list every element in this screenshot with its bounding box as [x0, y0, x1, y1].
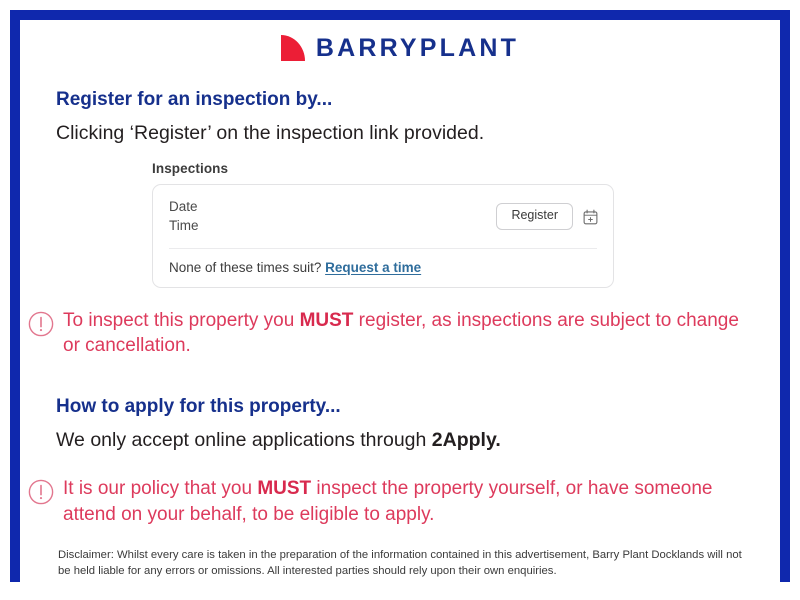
- alert-two-pre: It is our policy that you: [63, 478, 257, 499]
- register-body: Clicking ‘Register’ on the inspection li…: [56, 121, 744, 145]
- exclamation-circle-icon: [28, 311, 54, 337]
- inspection-date-label: Date: [169, 198, 199, 216]
- apply-body: We only accept online applications throu…: [56, 428, 744, 452]
- brand-logo: BARRYPLANT: [20, 35, 780, 61]
- apply-body-pre: We only accept online applications throu…: [56, 429, 432, 451]
- inspection-row: Date Time Register: [153, 185, 613, 248]
- section-apply: How to apply for this property... We onl…: [20, 396, 780, 452]
- spacer: [56, 419, 744, 428]
- spacer: [56, 112, 744, 121]
- request-a-time-link[interactable]: Request a time: [325, 260, 421, 275]
- flyer-content: BARRYPLANT Register for an inspection by…: [20, 35, 780, 587]
- flyer-root: BARRYPLANT Register for an inspection by…: [0, 0, 800, 600]
- request-time-prompt: None of these times suit?: [169, 260, 321, 275]
- alert-two-wrap: It is our policy that you MUST inspect t…: [20, 476, 780, 526]
- exclamation-circle-icon: [28, 479, 54, 505]
- inspection-card: Date Time Register: [152, 184, 614, 288]
- section-register: Register for an inspection by... Clickin…: [20, 89, 780, 145]
- inspections-widget: Inspections Date Time Register: [152, 161, 614, 288]
- brand-name: BARRYPLANT: [316, 36, 519, 61]
- inspection-actions: Register: [496, 203, 599, 230]
- barryplant-logo-mark-icon: [281, 35, 305, 61]
- blue-border-frame: BARRYPLANT Register for an inspection by…: [10, 10, 790, 582]
- spacer: [20, 61, 780, 89]
- alert-two-strong: MUST: [257, 478, 311, 499]
- disclaimer-text: Disclaimer: Whilst every care is taken i…: [20, 547, 780, 580]
- register-heading: Register for an inspection by...: [56, 89, 744, 112]
- inspection-time-label: Time: [169, 217, 199, 235]
- alert-one-pre: To inspect this property you: [63, 310, 300, 331]
- inspection-card-footer: None of these times suit? Request a time: [153, 249, 613, 287]
- alert-one-text: To inspect this property you MUST regist…: [63, 308, 744, 358]
- register-button[interactable]: Register: [496, 203, 573, 230]
- alert-one-strong: MUST: [300, 310, 354, 331]
- apply-heading: How to apply for this property...: [56, 396, 744, 419]
- apply-body-strong: 2Apply.: [432, 429, 501, 451]
- alert-one: To inspect this property you MUST regist…: [26, 308, 744, 358]
- alert-two-text: It is our policy that you MUST inspect t…: [63, 476, 744, 526]
- add-to-calendar-icon[interactable]: [582, 208, 599, 226]
- inspections-title: Inspections: [152, 161, 614, 176]
- alert-one-wrap: To inspect this property you MUST regist…: [20, 308, 780, 358]
- inspection-datetime: Date Time: [169, 198, 199, 235]
- alert-two: It is our policy that you MUST inspect t…: [26, 476, 744, 526]
